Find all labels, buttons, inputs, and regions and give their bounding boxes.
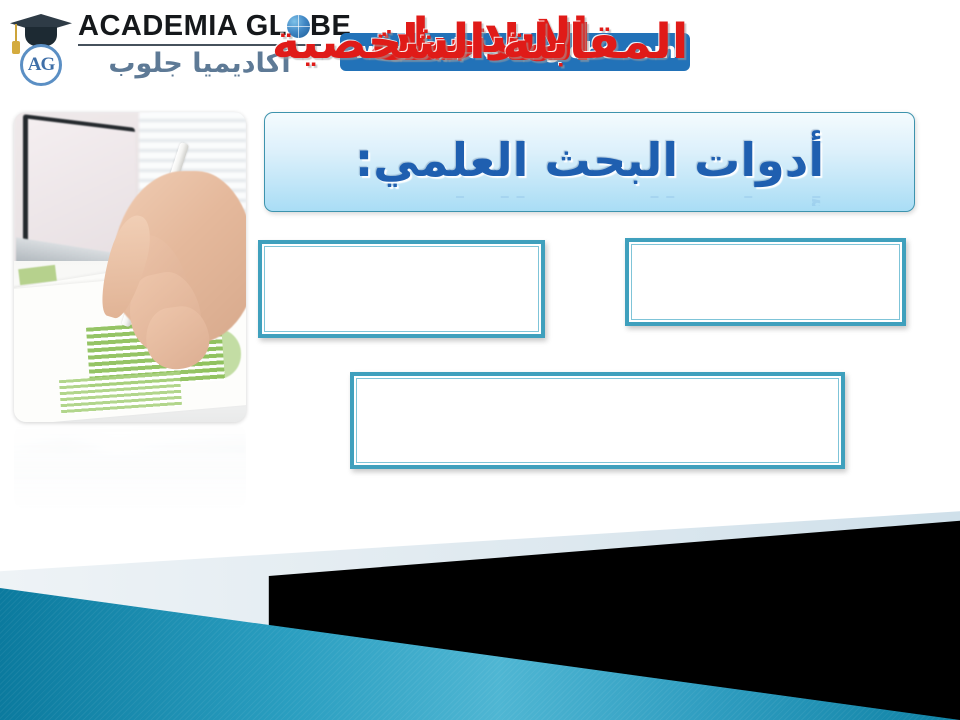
term-box-inner-rule (631, 244, 900, 320)
bottom-decoration (0, 480, 960, 720)
research-photo-frame (14, 112, 246, 422)
research-photo (14, 112, 246, 422)
term-box-observation[interactable] (258, 240, 545, 338)
term-box-inner-rule (264, 246, 539, 332)
slide-canvas: AG ACADEMIA GLBE أكاديميا جلوب www.acade… (0, 0, 960, 720)
slide-title-box: أدوات البحث العلمي: (264, 112, 915, 212)
term-box-inner-rule (356, 378, 839, 463)
term-label-interview: المقابلة الشخصية (0, 0, 960, 91)
slide-title: أدوات البحث العلمي: (265, 113, 914, 211)
term-box-questionnaire[interactable] (625, 238, 906, 326)
term-box-interview[interactable] (350, 372, 845, 469)
reflection-strip (14, 424, 246, 453)
